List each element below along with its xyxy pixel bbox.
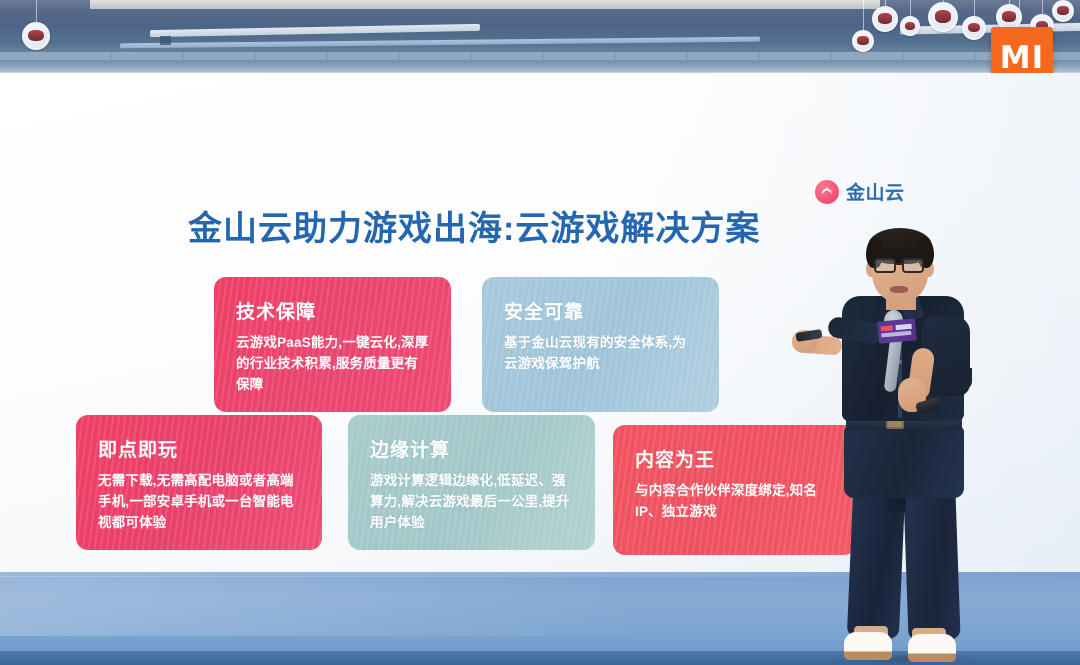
- ceiling-rail-tick: [470, 52, 472, 64]
- ceiling-rail-tick: [974, 52, 976, 64]
- ceiling-light-strip: [120, 37, 760, 49]
- ceiling-rail-tick: [542, 52, 544, 64]
- card-body: 基于金山云现有的安全体系,为云游戏保驾护航: [504, 333, 697, 375]
- kingsoft-cloud-logo-text: 金山云: [846, 178, 905, 205]
- disc-center-motif: [857, 36, 869, 45]
- speaker-shoe-right: [908, 634, 956, 662]
- hanging-disc-decoration: [872, 6, 898, 32]
- disc-hanging-string: [974, 0, 975, 16]
- ceiling-rail-tick: [398, 52, 400, 64]
- disc-hanging-string: [1019, 0, 1020, 30]
- hanging-disc-decoration: [962, 16, 986, 40]
- feature-card-tech: 技术保障 云游戏PaaS能力,一键云化,深厚的行业技术积累,服务质量更有保障: [214, 277, 451, 412]
- ceiling-rail-tick: [326, 52, 328, 64]
- speaker-shoe-left: [844, 632, 892, 660]
- disc-hanging-string: [1042, 0, 1043, 14]
- speaker-hips: [844, 426, 964, 498]
- card-heading: 技术保障: [236, 297, 429, 324]
- feature-card-edge-computing: 边缘计算 游戏计算逻辑边缘化,低延迟、强算力,解决云游戏最后一公里,提升用户体验: [348, 415, 595, 550]
- card-heading: 即点即玩: [98, 435, 300, 462]
- ceiling-rail-tick: [686, 52, 688, 64]
- ceiling-panel: [0, 60, 1080, 72]
- card-heading: 边缘计算: [370, 435, 573, 462]
- slide-title: 金山云助力游戏出海:云游戏解决方案: [188, 201, 760, 250]
- disc-hanging-string: [36, 0, 37, 22]
- ceiling-rail-tick: [110, 52, 112, 64]
- feature-card-instant-play: 即点即玩 无需下载,无需高配电脑或者高端手机,一部安卓手机或一台智能电视都可体验: [76, 415, 322, 550]
- disc-center-motif: [905, 22, 915, 30]
- disc-center-motif: [935, 10, 952, 22]
- speaker-leg-right: [903, 489, 960, 641]
- feature-card-security: 安全可靠 基于金山云现有的安全体系,为云游戏保驾护航: [482, 277, 719, 412]
- hanging-disc-decoration: [1052, 0, 1074, 22]
- glasses-lens-right: [902, 258, 924, 273]
- card-heading: 安全可靠: [504, 297, 697, 324]
- speaker-presenter: [770, 228, 1080, 665]
- kingsoft-cloud-logo: 金山云: [815, 178, 905, 205]
- microphone-flag: [877, 318, 917, 343]
- disc-hanging-string: [863, 0, 864, 30]
- hanging-disc-decoration: [22, 22, 50, 50]
- disc-center-motif: [1002, 11, 1016, 22]
- ceiling-light-strip: [150, 24, 480, 37]
- glasses-bridge: [896, 263, 902, 265]
- ceiling-rail-tick: [614, 52, 616, 64]
- ceiling-glow: [90, 0, 880, 9]
- hanging-disc-decoration: [852, 30, 874, 52]
- speaker-sleeve-left: [938, 368, 972, 390]
- card-body: 无需下载,无需高配电脑或者高端手机,一部安卓手机或一台智能电视都可体验: [98, 471, 300, 534]
- mi-logo-text: MI: [1000, 43, 1044, 74]
- hanging-disc-decoration: [928, 2, 958, 32]
- card-body: 游戏计算逻辑边缘化,低延迟、强算力,解决云游戏最后一公里,提升用户体验: [370, 471, 573, 534]
- ceiling-fixture: [160, 36, 171, 45]
- ceiling-rail-tick: [254, 52, 256, 64]
- cloud-arrow-icon: [815, 180, 839, 204]
- disc-center-motif: [878, 13, 892, 24]
- speaker-mouth: [890, 286, 908, 293]
- disc-center-motif: [1057, 6, 1069, 15]
- card-body: 云游戏PaaS能力,一键云化,深厚的行业技术积累,服务质量更有保障: [236, 333, 429, 396]
- venue-ceiling: [0, 0, 1080, 76]
- ceiling-rail-tick: [830, 52, 832, 64]
- disc-center-motif: [968, 23, 981, 33]
- disc-center-motif: [28, 30, 43, 42]
- disc-hanging-string: [910, 0, 911, 16]
- ceiling-rail-tick: [758, 52, 760, 64]
- ceiling-rail-tick: [902, 52, 904, 64]
- conference-stage-scene: MI 金山云 金山云助力游戏出海:云游戏解决方案 技术保障 云游戏PaaS能力,…: [0, 0, 1080, 665]
- ceiling-rail-tick: [182, 52, 184, 64]
- hanging-disc-decoration: [900, 16, 920, 36]
- glasses-lens-left: [874, 258, 896, 273]
